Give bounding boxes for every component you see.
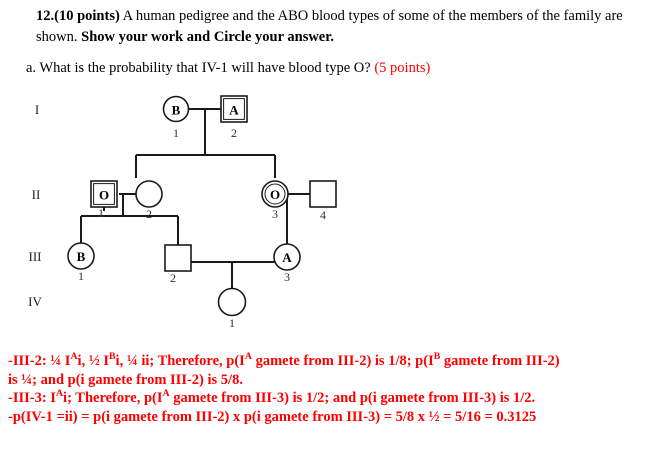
answer-line-3-sup-b: A	[163, 388, 170, 399]
individual-number-II-3: 3	[272, 207, 278, 221]
pedigree-individual-I-2: A 2	[221, 96, 247, 140]
answer-line-3: -III-3: IAi; Therefore, p(IA gamete from…	[8, 389, 668, 408]
answer-line-1-seg-a: -III-2: ¼ I	[8, 353, 70, 369]
individual-number-II-1: 1	[98, 206, 104, 220]
generation-label-III: III	[29, 249, 42, 264]
individual-number-IV-1: 1	[229, 316, 235, 330]
individual-number-III-3: 3	[284, 270, 290, 284]
answer-line-1-sup-b: B	[109, 351, 116, 362]
answer-line-3-seg-c: gamete from III-3) is 1/2; and p(i gamet…	[170, 390, 536, 406]
phenotype-label-III-3: A	[282, 250, 292, 265]
answer-line-1-seg-c: i, ¼ ii; Therefore, p(I	[116, 353, 245, 369]
part-a-text: What is the probability that IV-1 will h…	[36, 60, 374, 76]
answer-line-1-sup-a: A	[70, 351, 77, 362]
pedigree-individual-III-2: 2	[165, 245, 191, 285]
generation-label-I: I	[35, 102, 39, 117]
answer-line-1: -III-2: ¼ IAi, ½ IBi, ¼ ii; Therefore, p…	[8, 352, 668, 371]
part-a-label: a.	[26, 60, 36, 76]
individual-number-II-2: 2	[146, 207, 152, 221]
answer-line-1-seg-e: gamete from III-2)	[440, 353, 559, 369]
pedigree-individual-III-1: B 1	[68, 243, 94, 283]
individual-number-II-4: 4	[320, 208, 326, 222]
phenotype-label-II-1: O	[99, 188, 109, 203]
answer-line-1-seg-d: gamete from III-2) is 1/8; p(I	[252, 353, 434, 369]
answer-line-3-seg-a: -III-3: I	[8, 390, 56, 406]
question-points: (10 points)	[54, 8, 120, 24]
answer-line-3-sup-a: A	[56, 388, 63, 399]
pedigree-individual-II-2: 2	[136, 181, 162, 221]
phenotype-label-II-3: O	[270, 187, 280, 202]
pedigree-individual-II-1: O 1	[91, 181, 117, 220]
answer-line-3-seg-b: i; Therefore, p(I	[63, 390, 162, 406]
individual-number-III-2: 2	[170, 271, 176, 285]
pedigree-chart: B 1 A 2 O 1 2 O 3 4 B 1 2	[0, 86, 420, 336]
answer-line-4: -p(IV-1 =ii) = p(i gamete from III-2) x …	[8, 408, 668, 427]
question-number: 12.	[36, 8, 54, 24]
question-instruction: Show your work and Circle your answer.	[81, 29, 334, 45]
individual-number-I-2: 2	[231, 126, 237, 140]
pedigree-individual-III-3: A 3	[274, 244, 300, 284]
part-a-points: (5 points)	[374, 60, 430, 76]
question-text: 12.(10 points) A human pedigree and the …	[36, 6, 636, 48]
individual-number-III-1: 1	[78, 269, 84, 283]
phenotype-label-I-2: A	[229, 103, 239, 118]
pedigree-individual-II-3: O 3	[262, 181, 288, 221]
answer-line-2: is ¼; and p(i gamete from III-2) is 5/8.	[8, 371, 668, 390]
answer-block: -III-2: ¼ IAi, ½ IBi, ¼ ii; Therefore, p…	[8, 352, 668, 426]
generation-label-IV: IV	[28, 294, 42, 309]
phenotype-label-III-1: B	[77, 249, 86, 264]
pedigree-individual-I-1: B 1	[164, 97, 189, 141]
answer-line-1-sup-c: A	[245, 351, 252, 362]
pedigree-individual-IV-1: 1	[219, 289, 246, 331]
pedigree-individual-II-4: 4	[310, 181, 336, 222]
individual-number-I-1: 1	[173, 126, 179, 140]
answer-line-1-seg-b: i, ½ I	[78, 353, 109, 369]
question-part-a: a. What is the probability that IV-1 wil…	[26, 58, 646, 79]
phenotype-label-I-1: B	[172, 103, 181, 118]
generation-label-II: II	[32, 187, 41, 202]
